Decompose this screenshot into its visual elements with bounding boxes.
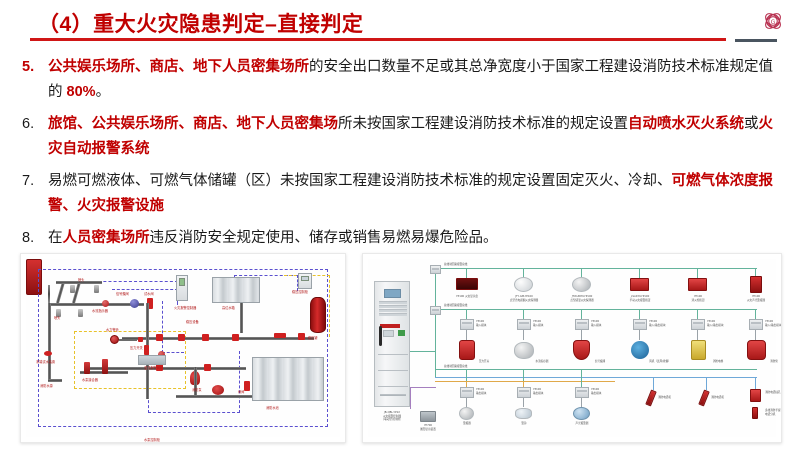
pipe-stub-a [48, 285, 50, 303]
row3-tel-jack: 消防电话插孔 [765, 391, 781, 394]
list-item: 6.旅馆、公共娱乐场所、商店、地下人员密集场所未按国家工程建设消防技术标准的规定… [22, 112, 784, 162]
fire-water-reservoir [252, 357, 324, 401]
bus-isolator-2 [430, 306, 441, 315]
cabinet-strip-1 [379, 301, 407, 304]
label-gate-valve: 闸阀 [238, 389, 244, 394]
text-segment: 易燃可燃液体、可燃气体储罐（区）未按国家工程建设消防技术标准的规定设置固定灭火、… [48, 173, 672, 189]
mod-name-3: 输入模块 [591, 324, 601, 327]
fire-elevator-device [691, 340, 706, 360]
io-module-1 [633, 319, 647, 330]
pressure-control-cabinet [298, 273, 312, 289]
out-link-2 [523, 398, 524, 407]
telephone-bus-stub [410, 387, 436, 388]
row1-name-3: 点型感温火灾探测器 [570, 299, 593, 302]
drop-r1-5 [697, 268, 698, 278]
label-fire-pump: 消防泵 [192, 387, 202, 392]
pressure-stabilizing-tank [310, 297, 326, 333]
label-test-valve: 试水阀 [144, 291, 154, 296]
label-siamese: 水泵接合器 [82, 377, 98, 382]
title-underline-primary [30, 38, 726, 41]
label-water-flow-indicator: 水流指示器 [92, 308, 108, 313]
output-module-2 [517, 387, 531, 398]
mod-link-4 [639, 330, 640, 340]
gate-valve-2 [178, 334, 185, 341]
text-segment: 违反消防安全规定使用、储存或销售易燃易爆危险品。 [150, 230, 498, 246]
output-module-1 [460, 387, 474, 398]
wet-alarm-valve-set [138, 355, 166, 365]
cabinet-handset [379, 326, 382, 346]
label-sprinkler-head: 喷头 [78, 277, 84, 282]
row3-tel-2: 消防电话机 [711, 396, 724, 399]
row1-name-6: 火灾声光警报器 [747, 299, 765, 302]
cabinet-display [384, 289, 401, 298]
text-segment: 在 [48, 230, 63, 246]
telephone-bus-drop [410, 387, 411, 409]
list-item-number: 7. [22, 169, 48, 194]
io-module-2 [691, 319, 705, 330]
drop-r2-5 [697, 310, 698, 319]
graphic-display-label: 图形显示装置 [420, 428, 436, 431]
fan-device [631, 341, 649, 359]
drop-r2-3 [581, 310, 582, 319]
hydrant-button [688, 278, 707, 291]
row2-dev-6: 消防泵 [770, 360, 778, 363]
text-segment: 人员密集场所 [63, 230, 150, 246]
graphic-display-unit [420, 411, 436, 422]
gate-valve-6 [204, 364, 211, 371]
bus-row3-label: 总线制回路报警总线 [444, 365, 467, 368]
alarm-diagram-canvas: JB-QBL-YP1X 火灾报警控制器 (联动型)控制柜 YP700 图形显示装… [368, 259, 776, 437]
label-water-source: 消防水源 [40, 383, 53, 388]
row3-dev-3: 声光报警器 [576, 422, 589, 425]
out-link-3 [581, 398, 582, 407]
out-link-1 [466, 398, 467, 407]
organization-seal-logo: G [760, 8, 786, 34]
cabinet-status-led [398, 330, 405, 336]
fire-pump-2 [212, 385, 224, 395]
bus-row3 [435, 369, 757, 370]
input-module-3 [575, 319, 589, 330]
row2-dev-2: 水流指示器 [536, 360, 549, 363]
bus-row1 [435, 268, 757, 269]
list-item-number: 5. [22, 55, 48, 80]
pressure-switch-device [459, 340, 475, 360]
page-title: （4）重大火灾隐患判定–直接判定 [38, 8, 363, 38]
text-segment: 旅馆、公共娱乐场所、商店、地下人员密集场 [48, 116, 338, 132]
alarm-sounder-device [459, 407, 474, 420]
label-pressure-switch: 压力开关 [130, 345, 143, 350]
label-signal-valve: 信号蝶阀 [116, 291, 129, 296]
gate-valve-4 [232, 334, 239, 341]
sounder-beacon [750, 276, 762, 293]
input-module-2 [517, 319, 531, 330]
mod-name-1: 输入模块 [476, 324, 486, 327]
label-sprinkler-head-2: 喷头 [54, 315, 60, 320]
fire-dept-connection-2 [102, 359, 108, 374]
manual-call-point [630, 278, 649, 291]
pressure-switch [138, 337, 143, 342]
cabinet-label-plate [380, 394, 406, 396]
fire-alarm-controller-cabinet [176, 275, 188, 301]
sprinkler-head-1 [70, 285, 75, 293]
drop-r1-4 [639, 268, 640, 278]
list-item-text: 易燃可燃液体、可燃气体储罐（区）未按国家工程建设消防技术标准的规定设置固定灭火、… [48, 169, 784, 219]
row2-dev-3: 信号蝶阀 [595, 360, 605, 363]
fire-dept-connection-1 [84, 362, 90, 374]
mod-link-2 [523, 330, 524, 340]
bus-row1-label: 总线制回路报警总线 [444, 263, 467, 266]
mod-name-5: 输入/输出模块 [707, 324, 723, 327]
drop-r3-3 [581, 370, 582, 387]
gate-valve-7 [298, 333, 305, 340]
text-segment: 公共娱乐场所、商店、地下人员密集场所 [48, 59, 309, 75]
list-item: 5.公共娱乐场所、商店、地下人员密集场所的安全出口数量不足或其总净宽度小于国家工… [22, 55, 784, 105]
drop-r2-6 [755, 310, 756, 319]
io-module-3 [749, 319, 763, 330]
label-reservoir: 消防水池 [266, 405, 279, 410]
row3-dev-1: 警报器 [463, 422, 471, 425]
list-item-text: 公共娱乐场所、商店、地下人员密集场所的安全出口数量不足或其总净宽度小于国家工程建… [48, 55, 784, 105]
list-item: 7.易燃可燃液体、可燃气体储罐（区）未按国家工程建设消防技术标准的规定设置固定灭… [22, 169, 784, 219]
label-pressure-unit: 稳压设备 [186, 319, 199, 324]
signal-butterfly-valve [130, 299, 139, 308]
row3-dev-2: 警铃 [521, 422, 526, 425]
mod-link-1 [466, 330, 467, 340]
mod-name-4: 输入/输出模块 [649, 324, 665, 327]
water-flow-indicator [102, 300, 109, 307]
list-item: 8.在人员密集场所违反消防安全规定使用、储存或销售易燃易爆危险品。 [22, 226, 784, 251]
sprinkler-head-4 [78, 309, 83, 317]
list-item-number: 8. [22, 226, 48, 251]
text-segment: 或 [744, 116, 759, 132]
water-flow-indicator-device [514, 342, 534, 359]
label-high-tank: 高位水箱 [222, 305, 235, 310]
cabinet-strip-4 [379, 313, 407, 316]
sprinkler-head-2 [94, 285, 99, 293]
cabinet-panel-line-3 [378, 386, 408, 387]
bell-pipe [119, 339, 137, 341]
label-water-bell: 水力警铃 [106, 327, 119, 332]
mod-link-3 [581, 330, 582, 340]
cabinet-keypad [383, 330, 394, 337]
label-wet-alarm-valve: 湿式报警阀组 [144, 365, 163, 370]
drain-pipe [48, 365, 51, 379]
tank-downpipe [240, 303, 243, 333]
bus-trunk-main [410, 351, 436, 352]
fire-display-panel [456, 278, 478, 290]
check-valve-2 [274, 333, 286, 338]
signal-butterfly-valve-device [573, 340, 590, 360]
label-end-test-device: 末端试水装置 [36, 359, 55, 364]
title-underline-secondary [735, 39, 777, 42]
bus-row2-label: 总线制回路报警总线 [444, 304, 467, 307]
sprinkler-diagram-canvas: 喷头 喷头 水流指示器 信号蝶阀 试水阀 末端试水装置 消防水源 火灾报警控制器… [26, 259, 340, 437]
row1-code-1: YP100 火灾显示盘 [456, 295, 478, 298]
text-segment: 所未按国家工程建设消防技术标准的规定设置 [338, 116, 628, 132]
svg-text:G: G [771, 19, 776, 26]
cabinet-panel-line-2 [378, 370, 408, 371]
cabinet-strip-3 [379, 309, 407, 312]
cabinet-alarm-led [380, 324, 400, 328]
figure-sprinkler-system: 喷头 喷头 水流指示器 信号蝶阀 试水阀 末端试水装置 消防水源 火灾报警控制器… [20, 253, 346, 443]
drop-tel-2 [706, 378, 707, 390]
gate-valve-1 [156, 334, 163, 341]
portable-fire-telephone [752, 407, 758, 419]
row3-tel-portable-b: 电话分机 [765, 413, 775, 416]
drop-r1-1 [466, 268, 467, 278]
text-segment: 自动喷水灭火系统 [628, 116, 744, 132]
out-name-2: 输出模块 [533, 392, 543, 395]
reservoir-valve [244, 381, 250, 391]
list-item-number: 6. [22, 112, 48, 137]
gate-valve-3 [202, 334, 209, 341]
drop-r2-1 [466, 310, 467, 319]
list-item-text: 旅馆、公共娱乐场所、商店、地下人员密集场所未按国家工程建设消防技术标准的规定设置… [48, 112, 784, 162]
out-name-3: 输出模块 [591, 392, 601, 395]
figure-fire-alarm-system: JB-QBL-YP1X 火灾报警控制器 (联动型)控制柜 YP700 图形显示装… [362, 253, 782, 443]
fire-pump-device [747, 340, 766, 360]
cabinet-strip-2 [379, 305, 407, 308]
label-pressure-cabinet: 稳压控制柜 [292, 289, 308, 294]
list-item-text: 在人员密集场所违反消防安全规定使用、储存或销售易燃易爆危险品。 [48, 226, 784, 251]
bus-broadcast [435, 381, 615, 382]
out-name-1: 输出模块 [476, 392, 486, 395]
bus-isolator-1 [430, 265, 441, 274]
mod-link-5 [697, 330, 698, 340]
fire-telephone-jack [750, 389, 761, 402]
label-pressure-tank: 稳压罐 [308, 335, 318, 340]
drop-r2-2 [523, 310, 524, 319]
row1-name-5: 消火栓按钮 [692, 299, 705, 302]
cabinet-panel-line-1 [378, 354, 408, 355]
hazard-criteria-list: 5.公共娱乐场所、商店、地下人员密集场所的安全出口数量不足或其总净宽度小于国家工… [22, 55, 784, 258]
cabinet-caption-3: (联动型)控制柜 [383, 418, 401, 421]
row1-name-2: 点型光电感烟火灾探测器 [510, 299, 539, 302]
alarm-bell-device [515, 408, 532, 419]
row2-dev-1: 压力开关 [479, 360, 489, 363]
text-segment: 。 [96, 84, 111, 100]
label-pump-control-cabinet: 水泵控制柜 [144, 437, 160, 442]
bus-row2 [435, 309, 757, 310]
drop-r2-4 [639, 310, 640, 319]
high-level-water-tank [212, 277, 260, 303]
row2-dev-5: 消防电梯 [713, 360, 723, 363]
bus-riser [435, 267, 436, 377]
drain-elbow [48, 379, 62, 382]
sounder-strobe-device [573, 407, 590, 420]
drop-tel-1 [653, 378, 654, 390]
water-motor-alarm-bell [110, 335, 119, 344]
alarm-valve-riser [144, 345, 149, 355]
row1-name-4: 手动火灾报警按钮 [630, 299, 651, 302]
end-test-device [44, 351, 52, 356]
fire-alarm-control-cabinet [374, 281, 410, 407]
mod-name-2: 输入模块 [533, 324, 543, 327]
output-module-3 [575, 387, 589, 398]
fire-telephone-1 [645, 389, 657, 406]
mod-link-6 [755, 330, 756, 340]
label-fire-alarm-controller: 火灾报警控制器 [174, 305, 196, 310]
input-module-1 [460, 319, 474, 330]
text-segment: 80% [67, 84, 96, 100]
bus-telephone [435, 377, 757, 378]
row3-tel-1: 消防电话机 [658, 396, 671, 399]
fire-telephone-2 [698, 389, 710, 406]
smoke-detector-photoelectric [514, 277, 533, 292]
secondary-header-pipe [86, 367, 246, 370]
row2-dev-4: 风机（送风/排烟） [649, 360, 671, 363]
mod-name-6: 输入/输出模块 [765, 324, 781, 327]
heat-detector [572, 277, 591, 292]
